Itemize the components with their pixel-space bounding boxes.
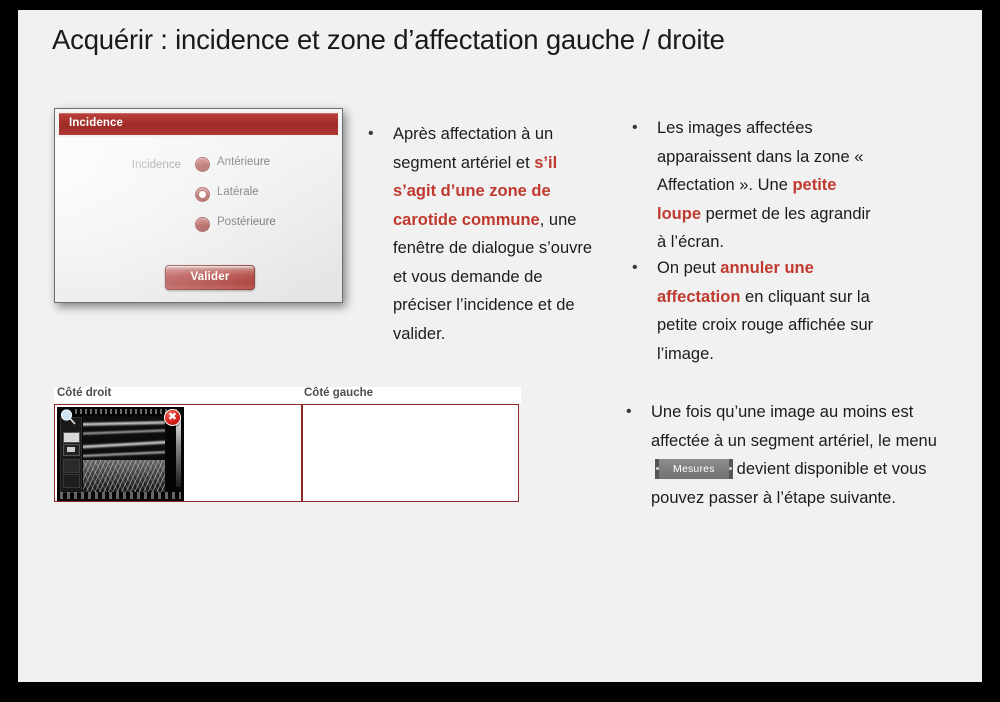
ultrasound-bottom-info-bar — [60, 492, 181, 499]
tissue-band — [83, 420, 165, 427]
incidence-dialog: Incidence Incidence Antérieure Latérale … — [54, 108, 343, 303]
radio-dot-icon[interactable] — [195, 157, 210, 172]
bullet-marker: • — [632, 254, 638, 282]
bullet-right-3: • Une fois qu’une image au moins est aff… — [626, 398, 956, 512]
ultrasound-side-panel — [60, 417, 82, 493]
column-header-cote-droit: Côté droit — [57, 387, 111, 399]
radio-label: Postérieure — [217, 216, 276, 228]
magnifier-icon[interactable] — [60, 409, 77, 426]
bullet-marker: • — [626, 398, 632, 426]
bullet-text: Une fois qu’une image au moins est affec… — [651, 398, 956, 512]
affectation-body: ✖ — [54, 404, 519, 502]
tissue-band — [83, 428, 165, 436]
bullet-seg-plain: Une fois qu’une image au moins est affec… — [651, 403, 937, 450]
panel-box — [63, 459, 80, 473]
bullet-text: On peut annuler une affectation en cliqu… — [657, 254, 882, 368]
dialog-title-bar: Incidence — [59, 113, 338, 135]
column-header-cote-gauche: Côté gauche — [304, 387, 373, 399]
affectation-header-row: Côté droit Côté gauche — [54, 387, 521, 404]
incidence-field-label: Incidence — [109, 159, 181, 171]
tissue-speckle — [83, 460, 165, 492]
bullet-marker: • — [368, 120, 374, 148]
bullet-right-1: • Les images affectées apparaissent dans… — [632, 114, 882, 257]
close-x-icon[interactable]: ✖ — [164, 409, 181, 426]
tissue-band — [83, 450, 165, 459]
radio-dot-icon[interactable] — [195, 217, 210, 232]
bullet-seg-plain: Après affectation à un segment artériel … — [393, 125, 553, 172]
affected-image-thumbnail[interactable]: ✖ — [57, 407, 184, 501]
panel-box — [63, 474, 80, 488]
valider-button[interactable]: Valider — [165, 265, 255, 290]
radio-label: Latérale — [217, 186, 259, 198]
bullet-left-1: • Après affectation à un segment artérie… — [368, 120, 594, 348]
panel-box — [63, 444, 80, 456]
bullet-text: Après affectation à un segment artériel … — [393, 120, 594, 348]
mesures-menu-button[interactable]: Mesures — [655, 459, 733, 479]
bullet-right-2: • On peut annuler une affectation en cli… — [632, 254, 882, 368]
affectation-column-divider — [301, 404, 303, 502]
radio-dot-selected-icon[interactable] — [195, 187, 210, 202]
close-x-glyph: ✖ — [165, 409, 180, 424]
ultrasound-grayscale-bar — [176, 417, 181, 487]
radio-label: Antérieure — [217, 156, 270, 168]
ultrasound-image-area — [83, 416, 165, 492]
bullet-marker: • — [632, 114, 638, 142]
bullet-text: Les images affectées apparaissent dans l… — [657, 114, 882, 257]
page-title: Acquérir : incidence et zone d’affectati… — [52, 24, 942, 56]
affectation-zone: Côté droit Côté gauche — [54, 387, 521, 509]
slide-canvas: Acquérir : incidence et zone d’affectati… — [18, 10, 982, 682]
panel-box — [63, 432, 80, 443]
dialog-title-label: Incidence — [69, 117, 123, 129]
tissue-band — [83, 439, 165, 450]
bullet-seg-plain: , une fenêtre de dialogue s’ouvre et vou… — [393, 211, 592, 343]
bullet-seg-plain: On peut — [657, 259, 720, 277]
